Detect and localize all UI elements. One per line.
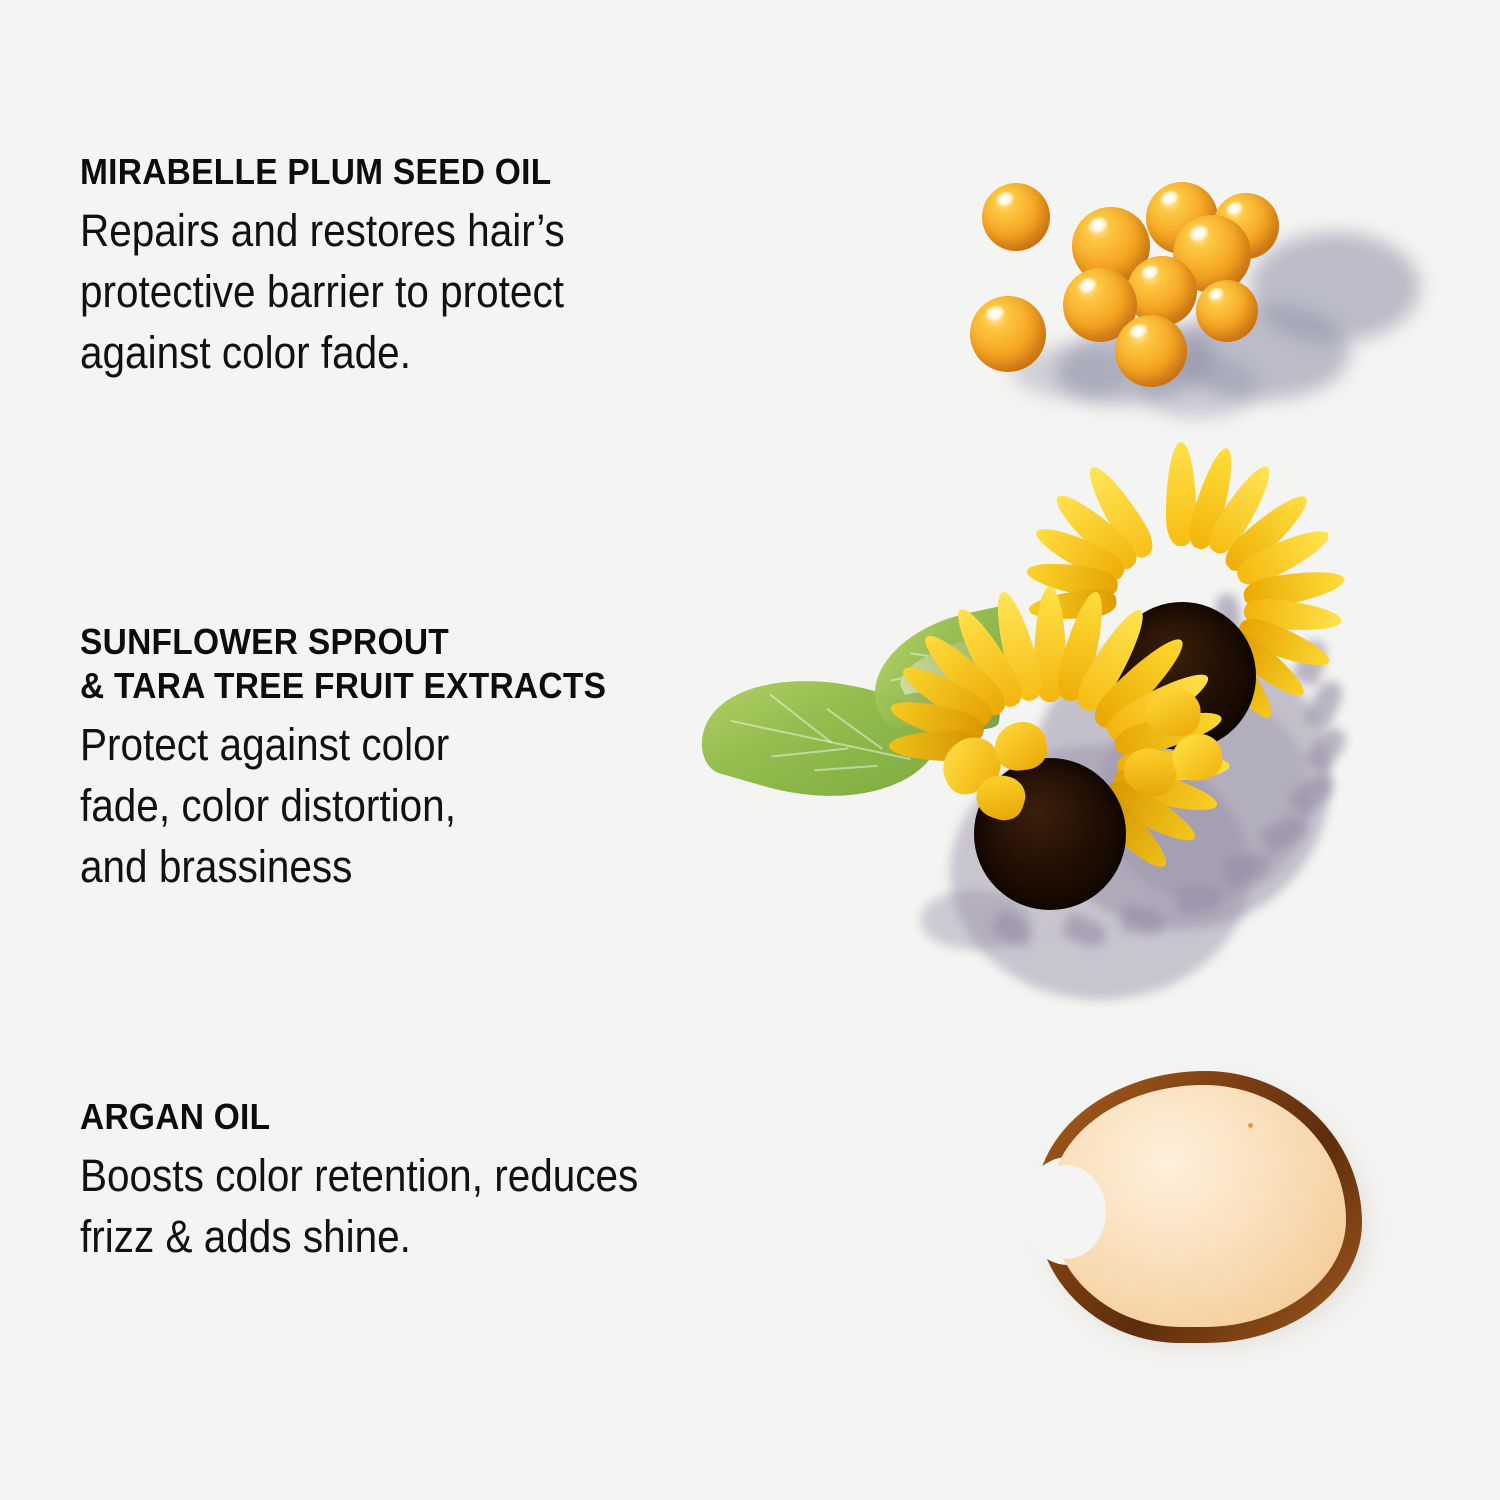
plum-sphere	[1127, 256, 1197, 326]
sunflower-inner-petals	[1092, 686, 1252, 826]
argan-drop-speck	[1248, 1123, 1253, 1128]
ingredient-description: Protect against color fade, color distor…	[80, 714, 589, 898]
plum-sphere	[982, 183, 1050, 251]
mirabelle-plums-photo	[960, 160, 1440, 460]
ingredient-heading: SUNFLOWER SPROUT & TARA TREE FRUIT EXTRA…	[80, 620, 606, 708]
plum-sphere	[1115, 315, 1187, 387]
ingredient-description: Boosts color retention, reduces frizz & …	[80, 1145, 638, 1267]
ingredient-heading: MIRABELLE PLUM SEED OIL	[80, 150, 581, 194]
argan-oil-drop-photo	[1020, 1065, 1380, 1365]
argan-drop-notch-inner	[1026, 1165, 1106, 1259]
ingredient-block-sunflower-sprout-tara-tree-fruit-extracts: SUNFLOWER SPROUT & TARA TREE FRUIT EXTRA…	[80, 620, 646, 897]
ingredient-block-mirabelle-plum-seed-oil: MIRABELLE PLUM SEED OIL Repairs and rest…	[80, 150, 619, 383]
ingredient-block-argan-oil: ARGAN OIL Boosts color retention, reduce…	[80, 1095, 700, 1267]
ingredient-heading: ARGAN OIL	[80, 1095, 657, 1139]
ingredient-panel: MIRABELLE PLUM SEED OIL Repairs and rest…	[0, 0, 1500, 1500]
sunflowers-photo	[700, 490, 1500, 1060]
plum-sphere	[970, 296, 1046, 372]
plum-sphere	[1196, 280, 1258, 342]
ingredient-description: Repairs and restores hair’s protective b…	[80, 200, 565, 384]
